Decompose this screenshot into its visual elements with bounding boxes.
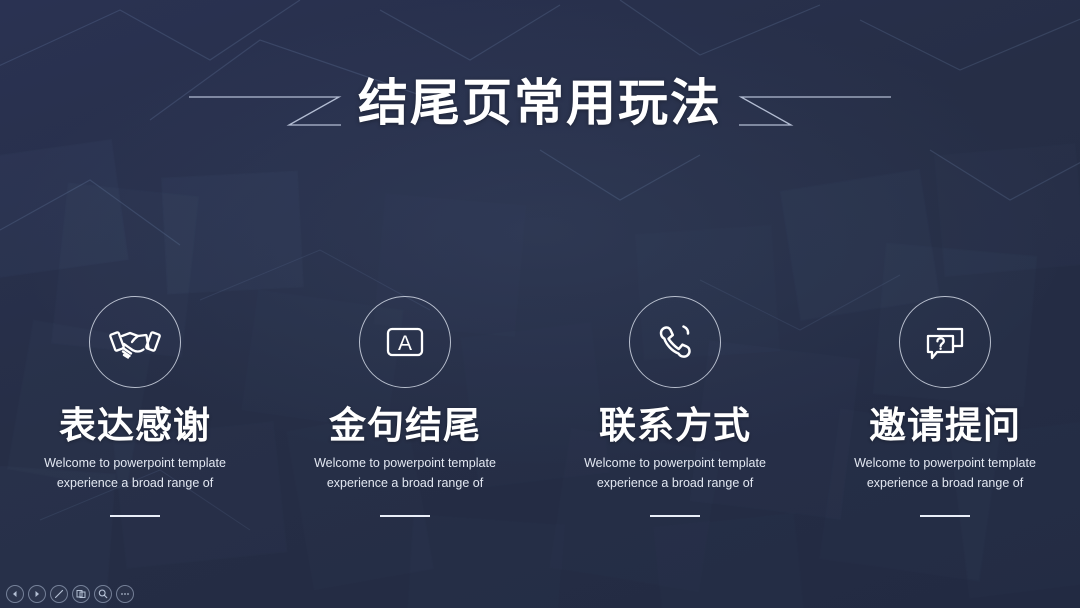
feature-description: Welcome to powerpoint template experienc… bbox=[44, 454, 226, 493]
feature-description: Welcome to powerpoint template experienc… bbox=[314, 454, 496, 493]
feature-heading: 表达感谢 bbox=[59, 406, 211, 445]
slideshow-control-bar bbox=[6, 585, 134, 603]
feature-description-line2: experience a broad range of bbox=[314, 474, 496, 493]
grid-icon bbox=[75, 588, 87, 600]
feature-heading: 金句结尾 bbox=[329, 406, 481, 445]
previous-slide-button[interactable] bbox=[6, 585, 24, 603]
feature-description-line2: experience a broad range of bbox=[854, 474, 1036, 493]
feature-column-quote: A 金句结尾 Welcome to powerpoint template ex… bbox=[270, 296, 540, 517]
feature-description-line1: Welcome to powerpoint template bbox=[314, 454, 496, 473]
feature-description-line1: Welcome to powerpoint template bbox=[854, 454, 1036, 473]
feature-heading: 邀请提问 bbox=[869, 406, 1021, 445]
feature-description: Welcome to powerpoint template experienc… bbox=[854, 454, 1036, 493]
triangle-left-icon bbox=[10, 589, 20, 599]
letter-a-box-icon-circle[interactable]: A bbox=[359, 296, 451, 388]
feature-description-line2: experience a broad range of bbox=[44, 474, 226, 493]
magnifier-icon bbox=[97, 588, 109, 600]
more-options-button[interactable] bbox=[116, 585, 134, 603]
feature-description: Welcome to powerpoint template experienc… bbox=[584, 454, 766, 493]
feature-column-questions: 邀请提问 Welcome to powerpoint template expe… bbox=[810, 296, 1080, 517]
title-row: 结尾页常用玩法 bbox=[0, 64, 1080, 142]
feature-description-line1: Welcome to powerpoint template bbox=[584, 454, 766, 473]
page-title: 结尾页常用玩法 bbox=[344, 78, 736, 128]
question-chat-icon-circle[interactable] bbox=[899, 296, 991, 388]
title-decoration-left bbox=[189, 75, 344, 131]
feature-description-line1: Welcome to powerpoint template bbox=[44, 454, 226, 473]
handshake-icon-circle[interactable] bbox=[89, 296, 181, 388]
handshake-icon bbox=[108, 315, 162, 369]
feature-heading: 联系方式 bbox=[599, 406, 751, 445]
ellipsis-icon bbox=[119, 588, 131, 600]
pen-icon bbox=[53, 588, 65, 600]
next-slide-button[interactable] bbox=[28, 585, 46, 603]
feature-divider bbox=[920, 515, 970, 517]
slide-grid-button[interactable] bbox=[72, 585, 90, 603]
feature-columns: 表达感谢 Welcome to powerpoint template expe… bbox=[0, 296, 1080, 517]
pen-tool-button[interactable] bbox=[50, 585, 68, 603]
feature-description-line2: experience a broad range of bbox=[584, 474, 766, 493]
zoom-button[interactable] bbox=[94, 585, 112, 603]
letter-a-box-icon: A bbox=[378, 315, 432, 369]
feature-divider bbox=[380, 515, 430, 517]
presentation-slide: 结尾页常用玩法 bbox=[0, 0, 1080, 608]
triangle-right-icon bbox=[32, 589, 42, 599]
telephone-icon-circle[interactable] bbox=[629, 296, 721, 388]
title-decoration-right bbox=[736, 75, 891, 131]
feature-column-contact: 联系方式 Welcome to powerpoint template expe… bbox=[540, 296, 810, 517]
feature-divider bbox=[650, 515, 700, 517]
svg-text:A: A bbox=[398, 332, 412, 355]
telephone-icon bbox=[648, 315, 702, 369]
question-chat-icon bbox=[918, 315, 972, 369]
feature-divider bbox=[110, 515, 160, 517]
feature-column-thanks: 表达感谢 Welcome to powerpoint template expe… bbox=[0, 296, 270, 517]
